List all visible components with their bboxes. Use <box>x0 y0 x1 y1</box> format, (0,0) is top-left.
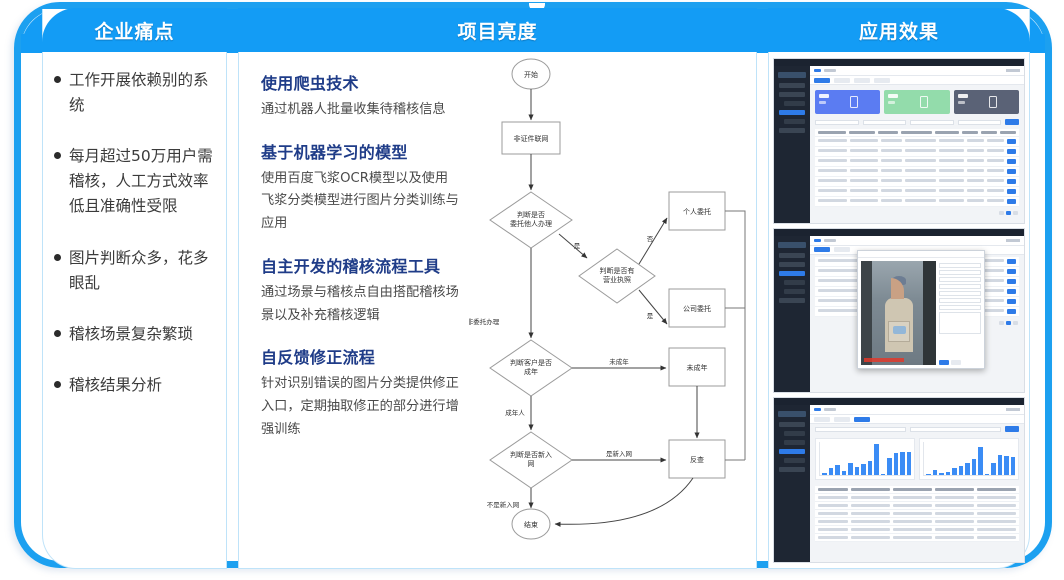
edge-label: 不是新入网 <box>487 500 520 509</box>
sidebar-item[interactable] <box>784 440 805 445</box>
device-icon <box>850 96 858 108</box>
bar <box>868 461 873 476</box>
bar <box>822 473 827 476</box>
screenshot-stack <box>769 52 1029 567</box>
node-label: 判断是否 <box>517 210 545 219</box>
page-next[interactable] <box>1013 211 1018 215</box>
sidebar-item[interactable] <box>779 422 805 427</box>
table-row[interactable] <box>815 157 1019 167</box>
bar <box>855 467 860 475</box>
photo-bg-right <box>923 261 936 365</box>
breadcrumb-home[interactable] <box>814 239 821 242</box>
filter-date[interactable] <box>958 120 1002 125</box>
sidebar-item[interactable] <box>779 92 805 97</box>
app-titlebar <box>774 59 1024 66</box>
screenshot-detail-modal[interactable] <box>773 228 1025 394</box>
chart-monthly[interactable] <box>919 438 1019 480</box>
sidebar-item[interactable] <box>784 289 805 294</box>
filter-bar[interactable] <box>810 117 1024 127</box>
list-item: 使用爬虫技术 通过机器人批量收集待稽核信息 <box>261 70 461 122</box>
chart-daily[interactable] <box>815 438 915 480</box>
table-row[interactable] <box>815 502 1019 510</box>
table-header-row <box>815 129 1019 137</box>
tab-week[interactable] <box>834 417 850 422</box>
audit-photo[interactable] <box>861 261 936 365</box>
bar <box>965 463 970 476</box>
tab-bar[interactable] <box>810 415 1024 424</box>
bar <box>926 474 931 476</box>
bar <box>1004 456 1009 475</box>
flowchart-svg: 开始 非证件联网 判断是否 委托他人办理 判断是否有 营业执照 个人委托 公司委… <box>469 52 759 552</box>
sidebar-item[interactable] <box>779 128 805 133</box>
table-row[interactable] <box>815 167 1019 177</box>
sidebar-item[interactable] <box>779 262 805 267</box>
tab-day[interactable] <box>814 417 830 422</box>
row-action-button[interactable] <box>1007 149 1016 154</box>
stats-table <box>815 486 1019 542</box>
list-item: 每月超过50万用户需稽核，人工方式效率低且准确性受限 <box>53 144 216 219</box>
pagination[interactable] <box>810 209 1024 217</box>
highlight-list: 使用爬虫技术 通过机器人批量收集待稽核信息 基于机器学习的模型 使用百度飞浆OC… <box>239 52 469 567</box>
node-label: 开始 <box>524 70 538 79</box>
highlight-heading: 自主开发的稽核流程工具 <box>261 253 461 277</box>
node-label: 判断是否新入 <box>510 450 552 459</box>
bar <box>978 447 983 475</box>
app-titlebar <box>774 229 1024 236</box>
bullet-dot-icon <box>54 330 61 337</box>
tab-pending[interactable] <box>834 78 850 83</box>
table-row[interactable] <box>815 177 1019 187</box>
pain-point-text: 稽核结果分析 <box>69 376 162 394</box>
sidebar-item-active[interactable] <box>779 110 805 115</box>
row-action-button[interactable] <box>1007 189 1016 194</box>
stat-card-row <box>810 85 1024 117</box>
bullet-dot-icon <box>54 254 61 261</box>
photo-timestamp <box>864 358 904 362</box>
sidebar-item[interactable] <box>784 280 805 285</box>
audit-flowchart: 开始 非证件联网 判断是否 委托他人办理 判断是否有 营业执照 个人委托 公司委… <box>469 52 756 567</box>
highlight-desc: 通过机器人批量收集待稽核信息 <box>261 99 461 122</box>
row-action-button[interactable] <box>1007 179 1016 184</box>
form-field[interactable] <box>939 263 982 268</box>
filter-input[interactable] <box>863 120 907 125</box>
screenshot-statistics[interactable] <box>773 397 1025 563</box>
node-label: 结束 <box>524 520 538 529</box>
filter-input[interactable] <box>815 120 859 125</box>
bullet-dot-icon <box>54 152 61 159</box>
column-pain-points: 企业痛点 工作开展依赖别的系统 每月超过50万用户需稽核，人工方式效率低且准确性… <box>42 9 227 569</box>
tab-error[interactable] <box>874 78 890 83</box>
form-field[interactable] <box>939 291 982 296</box>
bar <box>887 458 892 475</box>
device-icon <box>989 96 997 108</box>
list-item: 自主开发的稽核流程工具 通过场景与稽核点自由搭配稽核场景以及补充稽核逻辑 <box>261 253 461 327</box>
node-label: 成年 <box>524 367 538 376</box>
tab-all[interactable] <box>814 78 830 83</box>
bar <box>842 471 847 476</box>
column-title-effects: 应用效果 <box>859 17 939 44</box>
pain-point-text: 图片判断众多，花多眼乱 <box>69 249 209 292</box>
highlight-desc: 使用百度飞浆OCR模型以及使用飞浆分类模型进行图片分类训练与应用 <box>261 168 461 236</box>
row-action-button[interactable] <box>1007 199 1016 204</box>
list-item: 稽核场景复杂繁琐 <box>53 322 216 347</box>
user-menu[interactable] <box>1006 69 1020 72</box>
stat-label <box>958 101 965 104</box>
form-field[interactable] <box>939 277 982 282</box>
app-titlebar <box>774 398 1024 405</box>
bar <box>829 468 834 475</box>
edge-label: 否 <box>647 235 654 243</box>
stat-card-pending[interactable] <box>884 90 949 114</box>
breadcrumb-home[interactable] <box>814 408 821 411</box>
filter-date[interactable] <box>910 427 1001 432</box>
screenshot-dashboard[interactable] <box>773 58 1025 224</box>
bullet-dot-icon <box>54 76 61 83</box>
highlight-heading: 基于机器学习的模型 <box>261 139 461 163</box>
list-item: 稽核结果分析 <box>53 373 216 398</box>
edge-label: 成年人 <box>505 408 525 417</box>
stat-label <box>819 101 826 104</box>
sidebar-item[interactable] <box>784 431 805 436</box>
node-label: 判断是否有 <box>600 266 635 275</box>
bar <box>894 453 899 475</box>
highlight-heading: 自反馈修正流程 <box>261 344 461 368</box>
tab-active[interactable] <box>814 247 830 252</box>
tab-bar[interactable] <box>810 76 1024 85</box>
edge-label: 非委托办理 <box>469 317 500 326</box>
stat-value <box>888 94 898 98</box>
device-icon <box>920 96 928 108</box>
bar <box>874 444 879 475</box>
row-action-button[interactable] <box>1007 169 1016 174</box>
table-row[interactable] <box>815 187 1019 197</box>
highlight-desc: 通过场景与稽核点自由搭配稽核场景以及补充稽核逻辑 <box>261 282 461 327</box>
sidebar-item[interactable] <box>784 101 805 106</box>
table-row[interactable] <box>815 534 1019 542</box>
tab-other[interactable] <box>834 247 850 252</box>
cancel-button[interactable] <box>951 360 961 365</box>
list-item: 基于机器学习的模型 使用百度飞浆OCR模型以及使用飞浆分类模型进行图片分类训练与… <box>261 139 461 236</box>
node-label: 个人委托 <box>683 207 711 216</box>
stat-label <box>888 101 895 104</box>
form-field[interactable] <box>939 305 982 310</box>
bar <box>1011 457 1016 475</box>
form-field[interactable] <box>939 270 982 275</box>
stat-card-total[interactable] <box>815 90 880 114</box>
dialog-titlebar <box>858 251 984 258</box>
column-title-pain-points: 企业痛点 <box>94 17 174 44</box>
node-label: 营业执照 <box>603 275 631 284</box>
column-header-highlights: 项目亮度 <box>238 8 757 52</box>
pain-point-text: 工作开展依赖别的系统 <box>69 71 209 114</box>
table-row[interactable] <box>815 197 1019 207</box>
node-label: 公司委托 <box>683 304 711 313</box>
search-button[interactable] <box>1005 119 1019 125</box>
bar <box>907 452 912 476</box>
sidebar-logo <box>778 242 806 248</box>
column-highlights: 项目亮度 使用爬虫技术 通过机器人批量收集待稽核信息 基于机器学习的模型 使用百… <box>238 9 757 569</box>
app-sidebar[interactable] <box>774 405 810 562</box>
edge-label: 是新入网 <box>606 449 632 458</box>
form-textarea[interactable] <box>939 312 982 334</box>
filter-select[interactable] <box>910 120 954 125</box>
bar <box>835 465 840 475</box>
page-current[interactable] <box>1006 211 1011 215</box>
bar <box>998 455 1003 475</box>
pain-point-list: 工作开展依赖别的系统 每月超过50万用户需稽核，人工方式效率低且准确性受限 图片… <box>43 52 226 398</box>
user-menu[interactable] <box>1006 239 1020 242</box>
bar <box>848 463 853 475</box>
list-item: 工作开展依赖别的系统 <box>53 68 216 118</box>
stat-card-abnormal[interactable] <box>954 90 1019 114</box>
form-field[interactable] <box>939 298 982 303</box>
pain-point-text: 每月超过50万用户需稽核，人工方式效率低且准确性受限 <box>69 147 213 215</box>
bar-series <box>923 442 1015 476</box>
filter-select[interactable] <box>815 427 906 432</box>
tab-month[interactable] <box>854 417 870 422</box>
sidebar-item[interactable] <box>779 83 805 88</box>
photo-bg-left <box>861 261 871 365</box>
table-row[interactable] <box>815 137 1019 147</box>
bar-series <box>819 442 911 476</box>
page-current[interactable] <box>1006 321 1011 325</box>
bar <box>972 459 977 476</box>
table-header-row <box>815 486 1019 494</box>
node-label: 网 <box>528 460 535 468</box>
table-row[interactable] <box>815 526 1019 534</box>
breadcrumb <box>810 66 1024 76</box>
table-row[interactable] <box>815 147 1019 157</box>
bar <box>952 468 957 475</box>
photo-held-document <box>888 321 910 342</box>
pain-point-text: 稽核场景复杂繁琐 <box>69 325 193 343</box>
bar <box>939 473 944 476</box>
stat-value <box>958 94 968 98</box>
sidebar-logo <box>778 72 806 78</box>
bar <box>900 452 905 475</box>
column-header-pain-points: 企业痛点 <box>42 8 227 52</box>
tab-done[interactable] <box>854 78 870 83</box>
confirm-button[interactable] <box>939 360 949 365</box>
edge-label: 是 <box>574 242 581 250</box>
sidebar-item[interactable] <box>779 467 805 472</box>
breadcrumb-current <box>824 408 836 411</box>
breadcrumb-current <box>824 239 836 242</box>
sidebar-item[interactable] <box>779 298 805 303</box>
node-label: 反查 <box>690 455 704 464</box>
edge-label: 未成年 <box>609 357 629 366</box>
bar <box>991 463 996 475</box>
slide-root: 企业痛点 工作开展依赖别的系统 每月超过50万用户需稽核，人工方式效率低且准确性… <box>0 0 1064 580</box>
bar <box>881 474 886 476</box>
query-button[interactable] <box>1005 426 1019 432</box>
detail-form[interactable] <box>939 261 982 365</box>
page-prev[interactable] <box>999 211 1004 215</box>
column-header-effects: 应用效果 <box>768 8 1030 52</box>
page-next[interactable] <box>1013 321 1018 325</box>
bar <box>861 464 866 475</box>
bar <box>985 474 990 475</box>
bullet-dot-icon <box>54 381 61 388</box>
form-field[interactable] <box>939 284 982 289</box>
sidebar-item-active[interactable] <box>779 449 805 454</box>
stat-value <box>819 94 829 98</box>
bar <box>959 466 964 475</box>
table-row[interactable] <box>815 510 1019 518</box>
node-label: 未成年 <box>687 363 708 372</box>
page-prev[interactable] <box>999 321 1004 325</box>
user-menu[interactable] <box>1006 408 1020 411</box>
breadcrumb-current <box>824 69 836 72</box>
sidebar-item-active[interactable] <box>779 271 805 276</box>
detail-dialog[interactable] <box>857 250 985 369</box>
row-action-button[interactable] <box>1007 139 1016 144</box>
data-table <box>815 129 1019 207</box>
breadcrumb-home[interactable] <box>814 69 821 72</box>
bar <box>933 470 938 476</box>
sidebar-item[interactable] <box>779 253 805 258</box>
node-label: 判断客户是否 <box>510 358 552 367</box>
node-label: 非证件联网 <box>514 134 549 143</box>
breadcrumb <box>810 405 1024 415</box>
list-item: 图片判断众多，花多眼乱 <box>53 246 216 296</box>
sidebar-logo <box>778 411 806 417</box>
sidebar-item[interactable] <box>784 458 805 463</box>
list-item: 自反馈修正流程 针对识别错误的图片分类提供修正入口，定期抽取修正的部分进行增强训… <box>261 344 461 441</box>
table-row[interactable] <box>815 494 1019 502</box>
bar <box>946 472 951 476</box>
column-effects: 应用效果 <box>768 9 1030 569</box>
highlight-heading: 使用爬虫技术 <box>261 70 461 94</box>
app-sidebar[interactable] <box>774 66 810 223</box>
node-label: 委托他人办理 <box>510 219 552 228</box>
sidebar-item[interactable] <box>784 119 805 124</box>
flowchart-return-lines <box>725 211 745 460</box>
column-title-highlights: 项目亮度 <box>457 17 537 44</box>
table-row[interactable] <box>815 518 1019 526</box>
edge-label: 是 <box>647 312 654 320</box>
highlight-desc: 针对识别错误的图片分类提供修正入口，定期抽取修正的部分进行增强训练 <box>261 373 461 441</box>
breadcrumb <box>810 236 1024 246</box>
filter-bar[interactable] <box>810 424 1024 434</box>
row-action-button[interactable] <box>1007 159 1016 164</box>
chart-row <box>810 434 1024 484</box>
app-sidebar[interactable] <box>774 236 810 393</box>
